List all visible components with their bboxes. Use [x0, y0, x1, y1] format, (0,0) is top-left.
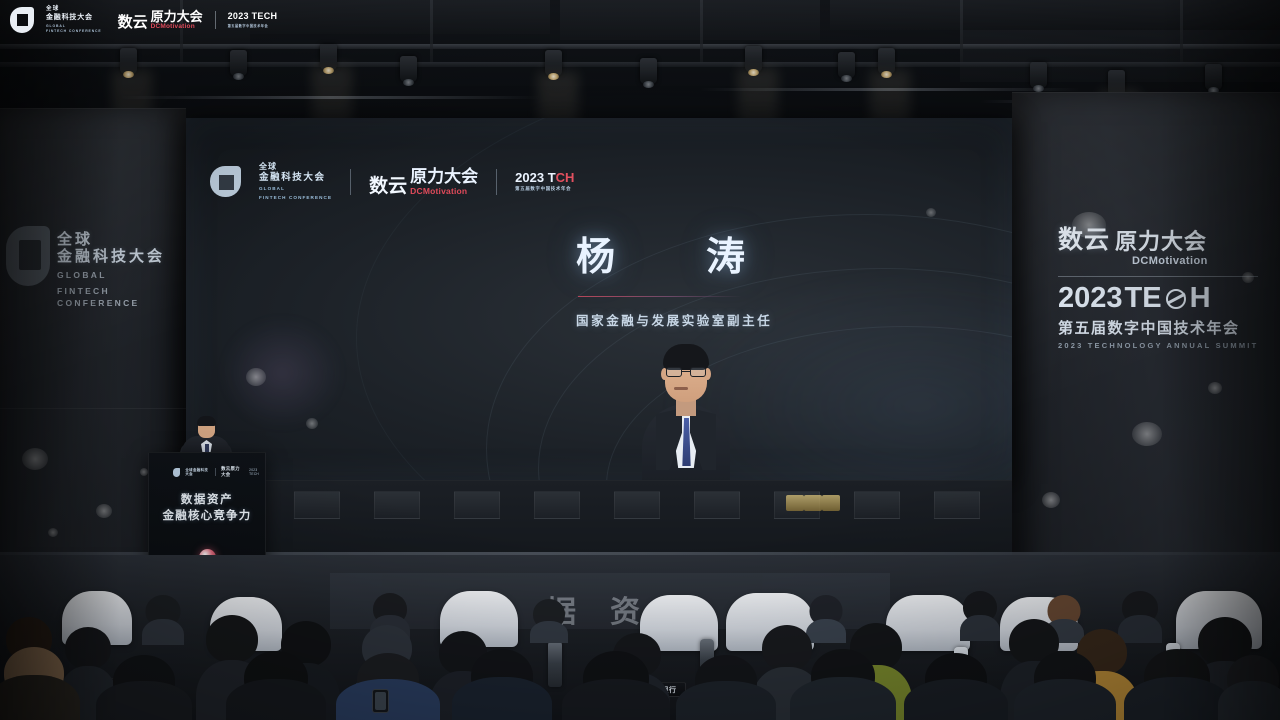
stage-light [1030, 62, 1047, 88]
divider [350, 169, 351, 195]
screen-brand-row: 全球 金融科技大会 GLOBAL FINTECH CONFERENCE 数云 原… [210, 162, 574, 202]
stage-light [640, 58, 657, 84]
eyeglasses-icon [666, 367, 706, 377]
audience-member [142, 595, 184, 645]
screen-yuanli-logo: 原力大会 [410, 168, 478, 185]
right-wall-brand-cn2: 原力大会 [1115, 231, 1207, 253]
audience-member [562, 651, 670, 720]
fintech-mark-icon [6, 226, 50, 286]
stage-light [400, 56, 417, 82]
screen-brand-en2: FINTECH CONFERENCE [259, 195, 332, 202]
audience-area: 数据资产 中国民生银行 中国进出口银行 中信银行 [0, 555, 1280, 720]
nebula-graphic [222, 318, 342, 428]
podium-logo-cn: 全球金融科技大会 [185, 468, 210, 477]
audience-member [226, 651, 326, 720]
left-wall-brand-lockup: 全球 金融科技大会 GLOBAL FINTECH CONFERENCE [6, 226, 178, 310]
main-led-screen: 全球 金融科技大会 GLOBAL FINTECH CONFERENCE 数云 原… [186, 118, 1012, 480]
overlay-year-subtitle: 第五届数字中国技术年会 [228, 23, 278, 28]
divider [215, 468, 216, 476]
smartphone [372, 689, 389, 713]
podium-logo-cn2: 数云原力大会 [221, 466, 244, 478]
overlay-shuyun-logo: 数云 [118, 15, 148, 30]
divider [496, 169, 497, 195]
overlay-brand-en2: FINTECH CONFERENCE [46, 29, 102, 34]
audience-member [1124, 649, 1230, 720]
right-wall-tech-word-a: TE [1125, 284, 1162, 313]
overlay-brand-cn1: 全球 [46, 6, 102, 13]
right-wall-tech-year: 2023 [1058, 284, 1123, 313]
audience-member [0, 647, 80, 720]
stage-fascia [186, 480, 1012, 556]
screen-dcmotivation-logo: DCMotivation [410, 186, 478, 196]
broadcast-overlay-logos: 全球 金融科技大会 GLOBAL FINTECH CONFERENCE 数云 原… [10, 6, 277, 34]
stage-light [1205, 64, 1222, 90]
audience-member [904, 653, 1008, 720]
fintech-mark-icon [10, 7, 34, 33]
screen-brand-cn1: 全球 [259, 162, 332, 172]
broadcast-frame: 全球 金融科技大会 GLOBAL FINTECH CONFERENCE 数云 原… [0, 0, 1280, 720]
right-wall-tech-cn: 第五届数字中国技术年会 [1058, 317, 1274, 338]
left-wall-brand-cn2: 金融科技大会 [57, 248, 178, 265]
overlay-dcmotivation-logo: DCMotivation [151, 23, 203, 30]
speaker-name: 杨 涛 [576, 238, 926, 277]
screen-year-subtitle: 第五届数字中国技术年会 [515, 186, 574, 192]
podium-logo-row: 全球金融科技大会 数云原力大会 2023 TECH [173, 466, 265, 478]
overlay-year-badge: 2023 TECH [228, 12, 278, 22]
speaker-name-block: 杨 涛 国家金融与发展实验室副主任 [576, 238, 926, 329]
screen-brand-cn2: 金融科技大会 [259, 172, 332, 184]
overlay-yuanli-logo: 原力大会 [151, 10, 203, 23]
screen-shuyun-logo: 数云 [369, 177, 407, 196]
fintech-mark-icon [210, 166, 241, 197]
audience-member [96, 655, 192, 720]
podium-logo-cn3: 2023 TECH [249, 468, 265, 476]
audience-member [530, 599, 568, 643]
speaker-portrait [638, 340, 734, 480]
screen-year-accent: CH [556, 170, 575, 185]
stage-light [230, 50, 247, 76]
podium-title-line1: 数据资产 [149, 493, 265, 509]
podium-title-line2: 金融核心竞争力 [149, 509, 265, 525]
right-wall-brand-cn: 数云 [1058, 228, 1110, 253]
fintech-mark-icon [173, 468, 180, 477]
screen-year-text: 2023 T [515, 170, 555, 185]
slashed-circle-icon [1165, 288, 1187, 310]
divider [215, 11, 216, 29]
screen-year-badge: 2023 TCH [515, 171, 574, 184]
divider [1058, 276, 1258, 277]
overlay-brand-cn2: 金融科技大会 [46, 13, 102, 22]
right-wall-tech-en: 2023 TECHNOLOGY ANNUAL SUMMIT [1058, 341, 1274, 350]
left-wall-brand-cn1: 全球 [57, 231, 178, 248]
podium-title-block: 数据资产 金融核心竞争力 [149, 493, 265, 524]
screen-brand-en1: GLOBAL [259, 186, 332, 193]
stage-light [838, 52, 855, 78]
audience-member [452, 649, 552, 720]
left-wall-brand-en1: GLOBAL [57, 269, 178, 282]
divider [578, 296, 742, 297]
right-wall-tech-word-b: H [1190, 284, 1211, 313]
audience-member [676, 655, 776, 720]
audience-member [1014, 651, 1116, 720]
audience-member [790, 649, 896, 720]
right-wall-brand-lockup: 数云 原力大会 DCMotivation 2023 TE H 第五届数字中国技术… [1058, 228, 1274, 350]
left-wall-brand-en2: FINTECH CONFERENCE [57, 285, 178, 311]
right-wall-brand-en: DCMotivation [1132, 255, 1274, 267]
speaker-title: 国家金融与发展实验室副主任 [576, 310, 926, 329]
audience-member [1218, 655, 1280, 720]
audience-member [960, 591, 1000, 641]
